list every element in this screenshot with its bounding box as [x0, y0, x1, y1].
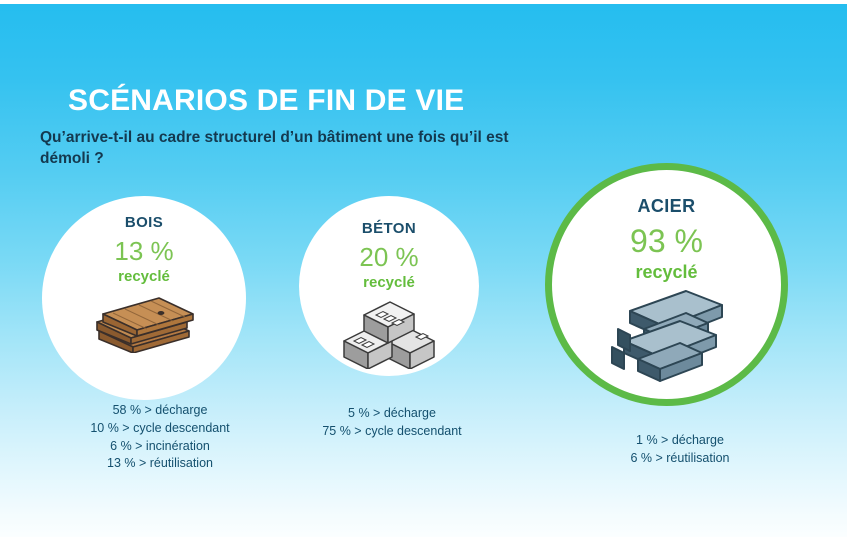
material-recycled-label-bois: recyclé — [118, 268, 170, 285]
material-recycled-label-acier: recyclé — [635, 262, 697, 283]
breakdown-item: 6 % > réutilisation — [585, 450, 775, 468]
steel-beams-icon — [604, 289, 730, 390]
breakdown-item: 1 % > décharge — [585, 432, 775, 450]
material-percent-beton: 20 % — [359, 244, 418, 270]
material-card-beton: BÉTON 20 % recyclé — [299, 196, 479, 376]
breakdown-item: 6 % > incinération — [62, 438, 258, 456]
page-title: SCÉNARIOS DE FIN DE VIE — [68, 84, 464, 118]
concrete-blocks-icon — [342, 297, 436, 374]
material-recycled-label-beton: recyclé — [363, 274, 415, 291]
breakdown-acier: 1 % > décharge 6 % > réutilisation — [585, 432, 775, 468]
material-card-acier: ACIER 93 % recyclé — [545, 163, 788, 406]
material-name-bois: BOIS — [125, 214, 163, 231]
breakdown-item: 58 % > décharge — [62, 402, 258, 420]
material-name-beton: BÉTON — [362, 220, 416, 237]
breakdown-bois: 58 % > décharge 10 % > cycle descendant … — [62, 402, 258, 473]
breakdown-item: 10 % > cycle descendant — [62, 420, 258, 438]
material-percent-acier: 93 % — [630, 225, 703, 257]
page-subtitle: Qu’arrive-t-il au cadre structurel d’un … — [40, 128, 510, 169]
wood-planks-icon — [89, 291, 199, 358]
breakdown-beton: 5 % > décharge 75 % > cycle descendant — [300, 405, 484, 441]
infographic-canvas: SCÉNARIOS DE FIN DE VIE Qu’arrive-t-il a… — [0, 0, 855, 537]
material-name-acier: ACIER — [637, 196, 695, 217]
material-card-bois: BOIS 13 % recyclé — [42, 196, 246, 400]
breakdown-item: 5 % > décharge — [300, 405, 484, 423]
breakdown-item: 75 % > cycle descendant — [300, 423, 484, 441]
breakdown-item: 13 % > réutilisation — [62, 455, 258, 473]
material-percent-bois: 13 % — [114, 238, 173, 264]
